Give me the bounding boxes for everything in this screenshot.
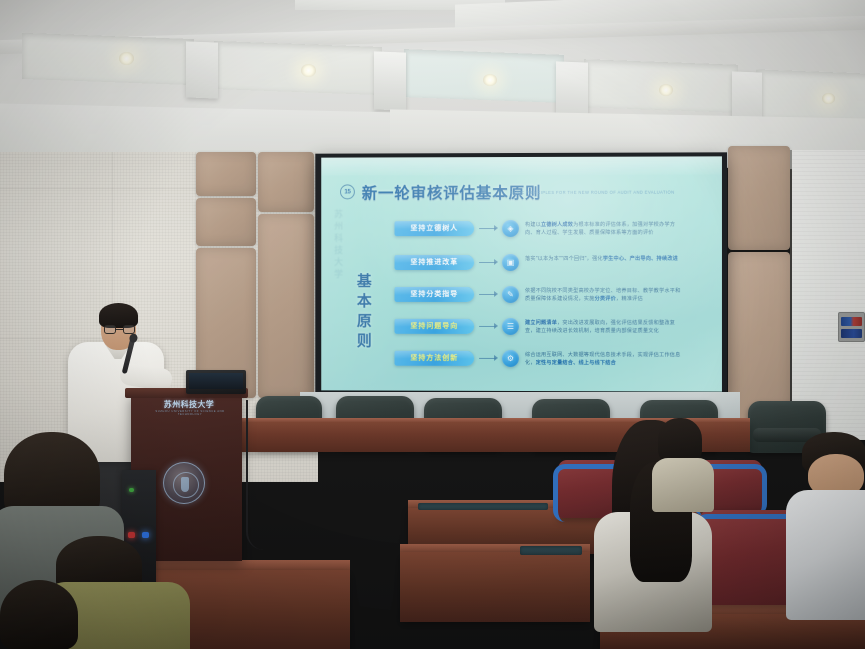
glasses-lens: [104, 325, 116, 334]
slide-subtitle: BASIC PRINCIPLES FOR THE NEW ROUND OF AU…: [510, 190, 674, 195]
ceiling-recess: [22, 33, 194, 85]
slide-section-label: 基本原则: [353, 273, 374, 353]
principle-row: 坚持方法创新⚙综合运用互联网、大数据等现代信息技术手段，实现评估工作信息化，定性…: [395, 351, 681, 373]
leather-wall-panel: [196, 198, 256, 246]
slide-top-band: [321, 156, 722, 175]
principle-description: 建立问题清单，突出改进发展取向，强化评估结果反馈和整改复查，建立持续改进长效机制…: [525, 319, 681, 336]
principle-row: 坚持推进改革▣落实"以本为本""四个回归"，强化学生中心、产出导向、持续改进: [395, 255, 681, 276]
desk-inset: [418, 503, 548, 510]
downlight-icon: [301, 64, 316, 77]
list-icon: ☰: [502, 318, 519, 335]
ceiling: [0, 0, 865, 162]
ceiling-recess: [214, 41, 382, 95]
wall-edge: [790, 150, 792, 440]
arrow-icon: [474, 287, 502, 302]
desk-inset: [520, 546, 582, 555]
arrow-icon: [474, 255, 502, 270]
status-led: [142, 532, 149, 538]
downlight-icon: [659, 84, 673, 96]
glasses-bridge: [116, 329, 123, 330]
control-panel-row: [841, 329, 862, 338]
principle-pill: 坚持推进改革: [395, 255, 475, 270]
podium-university-name: 苏州科技大学: [152, 399, 226, 410]
person-torso: [652, 458, 714, 512]
principle-pill: 坚持问题导向: [395, 319, 475, 334]
wall-right: [792, 150, 865, 440]
control-panel-row: [841, 317, 862, 326]
downlight-icon: [822, 93, 835, 104]
principle-description: 构建以立德树人成效为根本标准的评估体系，加强对学校办学方向、育人过程、学生发展、…: [525, 221, 681, 238]
principle-pill: 坚持方法创新: [395, 351, 475, 366]
ceiling-beam: [374, 51, 406, 110]
slide-watermark: 苏州科技大学: [330, 209, 345, 281]
wall-control-panel[interactable]: [838, 312, 865, 342]
arrow-icon: [474, 351, 502, 366]
ceiling-beam: [186, 41, 218, 98]
shield-icon: ◈: [502, 220, 519, 237]
glasses-icon: [104, 325, 135, 334]
principle-pill: 坚持分类指导: [395, 287, 475, 302]
university-seal-icon: [163, 462, 205, 504]
principle-row: 坚持立德树人◈构建以立德树人成效为根本标准的评估体系，加强对学校办学方向、育人过…: [395, 221, 681, 242]
principle-description: 依据不同院校不同类型高校办学定位、培养目标、教学教学水平和质量保障体系建设情况，…: [525, 287, 681, 304]
principle-description: 落实"以本为本""四个回归"，强化学生中心、产出导向、持续改进: [525, 255, 681, 263]
status-led: [129, 488, 134, 492]
document-icon: ▣: [502, 254, 519, 271]
lecture-hall-photo: 15 新一轮审核评估基本原则 BASIC PRINCIPLES FOR THE …: [0, 0, 865, 649]
person-hair: [0, 580, 78, 649]
leather-wall-panel: [258, 152, 314, 212]
arrow-icon: [474, 319, 502, 334]
audience-desk: [400, 552, 590, 622]
downlight-icon: [483, 74, 497, 86]
slide-page-badge: 15: [340, 184, 355, 199]
principle-row: 坚持分类指导✎依据不同院校不同类型高校办学定位、培养目标、教学教学水平和质量保障…: [395, 287, 681, 308]
principle-row: 坚持问题导向☰建立问题清单，突出改进发展取向，强化评估结果反馈和整改复查，建立持…: [395, 319, 681, 340]
leather-wall-panel: [258, 214, 314, 398]
laptop: [186, 370, 246, 394]
cable: [246, 400, 264, 550]
network-icon: ⚙: [502, 350, 519, 367]
leather-wall-panel: [196, 152, 256, 196]
ceiling-recess: [756, 69, 865, 122]
projection-screen: 15 新一轮审核评估基本原则 BASIC PRINCIPLES FOR THE …: [315, 152, 727, 396]
downlight-icon: [119, 52, 134, 65]
arrow-icon: [474, 221, 502, 236]
podium-university-name-en: SUZHOU UNIVERSITY OF SCIENCE AND TECHNOL…: [146, 410, 234, 416]
principle-pill: 坚持立德树人: [395, 221, 475, 236]
leather-wall-panel: [728, 146, 790, 250]
slide-surface: 15 新一轮审核评估基本原则 BASIC PRINCIPLES FOR THE …: [321, 156, 722, 391]
edit-icon: ✎: [502, 286, 519, 303]
principle-description: 综合运用互联网、大数据等现代信息技术手段，实现评估工作信息化，定性与定量结合、线…: [525, 351, 681, 368]
status-led: [128, 532, 135, 538]
person-torso: [786, 490, 865, 620]
